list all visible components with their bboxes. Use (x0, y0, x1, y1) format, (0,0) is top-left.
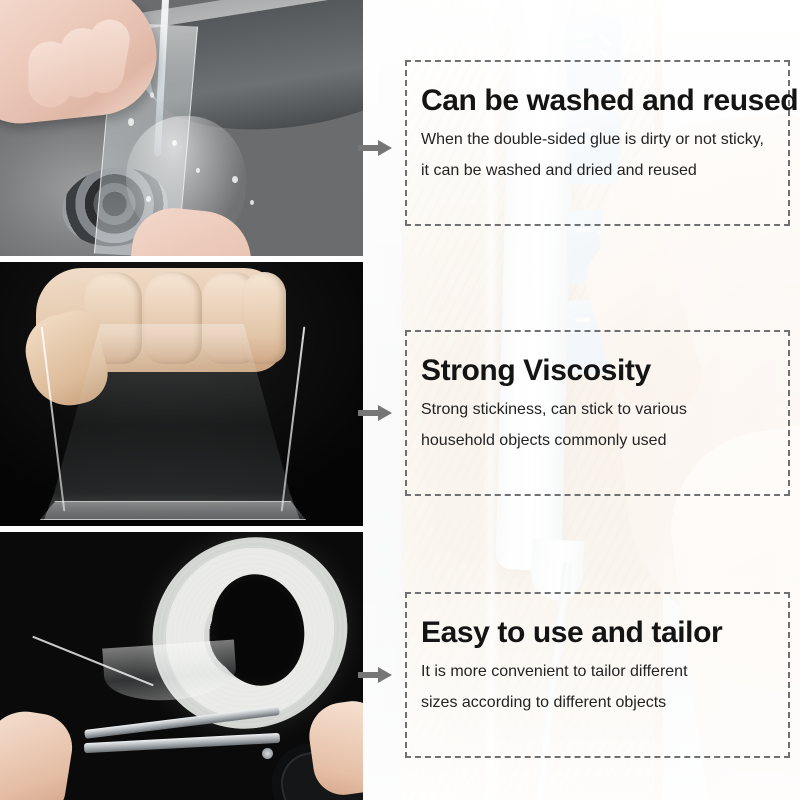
feature-description-line: When the double-sided glue is dirty or n… (421, 124, 788, 155)
feature-description-line: It is more convenient to tailor differen… (421, 656, 788, 687)
arrow-right-icon (358, 139, 392, 157)
feature-title: Strong Viscosity (421, 354, 788, 388)
feature-box-easy-to-use-and-tailor: Easy to use and tailor It is more conven… (405, 592, 790, 758)
feature-description-line: sizes according to different objects (421, 687, 788, 718)
product-feature-infographic: Can be washed and reused When the double… (0, 0, 800, 800)
photo-cutting-tape-roll (0, 532, 363, 800)
feature-description-line: household objects commonly used (421, 425, 788, 456)
scissor-pivot (262, 748, 273, 759)
feature-title: Easy to use and tailor (421, 616, 788, 650)
photo-stretching-tape (0, 262, 363, 526)
photo-column (0, 0, 363, 800)
arrow-right-icon (358, 404, 392, 422)
arrow-right-icon (358, 666, 392, 684)
feature-title: Can be washed and reused (421, 84, 788, 118)
feature-box-strong-viscosity: Strong Viscosity Strong stickiness, can … (405, 330, 790, 496)
feature-description-line: it can be washed and dried and reused (421, 155, 788, 186)
photo-washing-tape-in-sink (0, 0, 363, 256)
tape-bottom-edge (40, 501, 306, 520)
feature-description-line: Strong stickiness, can stick to various (421, 394, 788, 425)
feature-box-washed-and-reused: Can be washed and reused When the double… (405, 60, 790, 226)
